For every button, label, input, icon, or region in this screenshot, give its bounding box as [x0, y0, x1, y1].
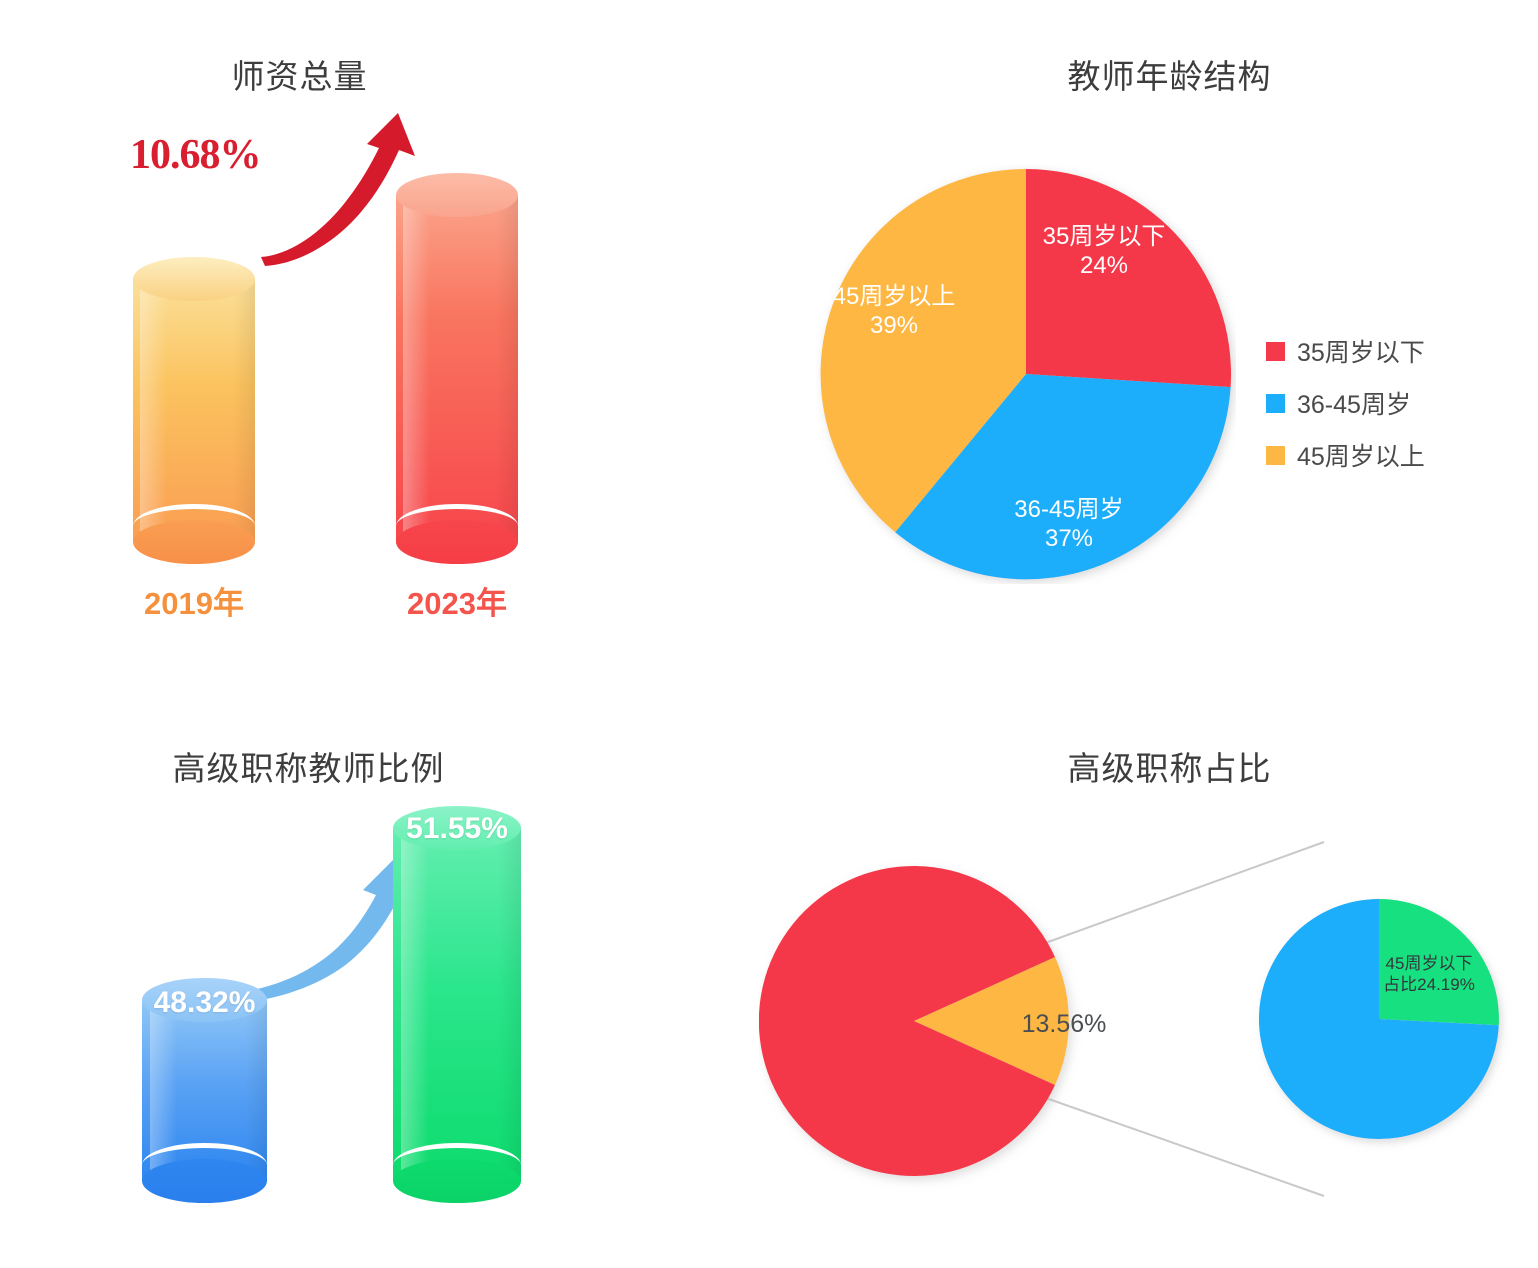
chart-title-senior-title-ratio: 高级职称教师比例	[0, 742, 693, 790]
legend-swatch-icon-under35	[1266, 342, 1285, 361]
legend-item-36to45[interactable]: 36-45周岁	[1266, 385, 1425, 421]
pie-of-pie-chart-senior-title-share	[759, 814, 1538, 1234]
chart-title-senior-title-share: 高级职称占比	[785, 742, 1538, 790]
bar-cylinder-2023	[396, 173, 518, 564]
bar-cylinder-51: 51.55%	[393, 806, 521, 1203]
chart-panel-faculty-total: 师资总量 10.68% 2019年 2023年	[0, 0, 769, 634]
legend-item-over45[interactable]: 45周岁以上	[1266, 437, 1425, 473]
legend-item-under35[interactable]: 35周岁以下	[1266, 333, 1425, 369]
pie-chart-teacher-age	[816, 164, 1236, 584]
growth-percent-label: 10.68%	[130, 131, 261, 179]
legend-swatch-icon-over45	[1266, 446, 1285, 465]
bar-value-48: 48.32%	[142, 986, 267, 1020]
legend-swatch-icon-36to45	[1266, 394, 1285, 413]
bar-label-2023: 2023年	[327, 578, 587, 623]
chart-title-teacher-age: 教师年龄结构	[785, 50, 1538, 98]
chart-panel-senior-title-share: 高级职称占比	[769, 634, 1538, 1268]
legend-label-36to45: 36-45周岁	[1297, 385, 1411, 421]
pie-legend-teacher-age: 35周岁以下 36-45周岁 45周岁以上	[1266, 333, 1425, 489]
chart-panel-teacher-age: 教师年龄结构 35周岁以下 24% 45周岁以上	[769, 0, 1538, 634]
bar-cylinder-2019	[133, 257, 255, 564]
infographic-canvas: 师资总量 10.68% 2019年 2023年 教师年龄	[0, 0, 1538, 1268]
chart-title-faculty-total: 师资总量	[0, 50, 684, 98]
bar-cylinder-48: 48.32%	[142, 978, 267, 1203]
bar-label-2019: 2019年	[64, 578, 324, 623]
legend-label-over45: 45周岁以上	[1297, 437, 1425, 473]
legend-label-under35: 35周岁以下	[1297, 333, 1425, 369]
bar-value-51: 51.55%	[393, 812, 521, 846]
chart-panel-senior-title-ratio: 高级职称教师比例 48.32% 51.55%	[0, 634, 769, 1268]
